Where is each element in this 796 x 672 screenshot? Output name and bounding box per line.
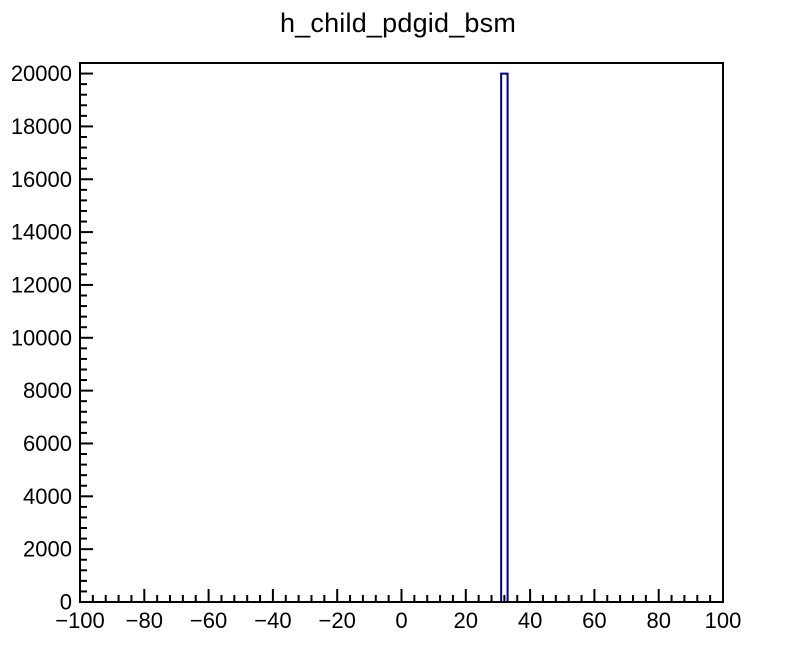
histogram-plot: 0200040006000800010000120001400016000180… [0,0,796,672]
y-tick-label: 2000 [23,537,72,562]
x-tick-label: −80 [126,608,163,633]
y-tick-label: 18000 [11,114,72,139]
x-tick-label: −100 [55,608,105,633]
x-tick-label: 20 [454,608,478,633]
frame-rect [80,63,723,602]
y-tick-label: 16000 [11,167,72,192]
y-tick-label: 4000 [23,484,72,509]
x-tick-label: 60 [582,608,606,633]
y-tick-label: 20000 [11,61,72,86]
y-tick-label: 8000 [23,378,72,403]
x-tick-label: 80 [646,608,670,633]
x-tick-label: 100 [705,608,742,633]
x-tick-label: −60 [190,608,227,633]
y-tick-label: 12000 [11,272,72,297]
plot-frame [80,63,723,602]
x-tick-label: −20 [319,608,356,633]
root-canvas: h_child_pdgid_bsm 0200040006000800010000… [0,0,796,672]
x-tick-label: 40 [518,608,542,633]
x-tick-label: −40 [254,608,291,633]
y-tick-label: 6000 [23,431,72,456]
y-tick-label: 10000 [11,325,72,350]
y-tick-label: 14000 [11,220,72,245]
x-tick-label: 0 [395,608,407,633]
